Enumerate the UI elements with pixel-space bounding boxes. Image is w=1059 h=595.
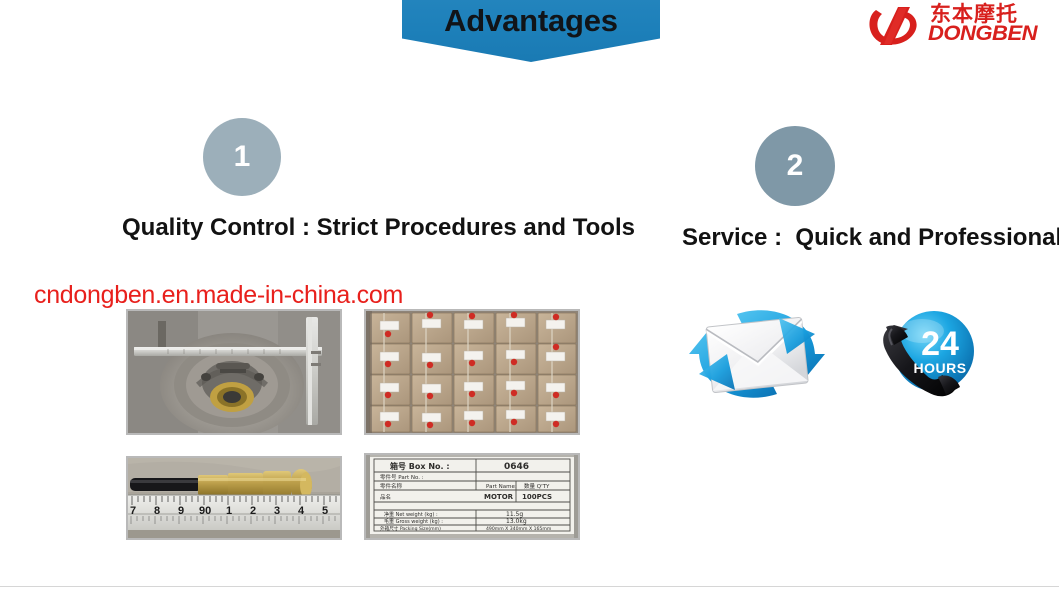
24-hours-number: 24 xyxy=(921,325,959,363)
svg-text:1: 1 xyxy=(226,505,232,517)
svg-text:11.5g: 11.5g xyxy=(506,511,523,518)
section-heading-quality-control: Quality Control : Strict Procedures and … xyxy=(122,214,635,242)
svg-text:Part Name:: Part Name: xyxy=(486,484,517,490)
photo-packing-label-form: 箱号 Box No. : 0646 零件号 Part No. : 零件名称 Pa… xyxy=(364,453,580,540)
slide-canvas: Advantages 东本摩托 DONGBEN 1 Quality Contro… xyxy=(0,0,1059,595)
svg-text:数量 Q'TY: 数量 Q'TY xyxy=(524,482,550,490)
dongben-swoosh-mark-icon xyxy=(866,5,928,47)
svg-text:MOTOR: MOTOR xyxy=(484,493,514,501)
photo-cable-end-fitting-ruler: 7 8 9 90 1 2 3 4 5 xyxy=(126,456,342,540)
svg-text:3: 3 xyxy=(274,505,280,517)
page-title: Advantages xyxy=(402,0,660,42)
svg-text:净重 Net weight (kg) :: 净重 Net weight (kg) : xyxy=(384,511,438,518)
watermark-url: cndongben.en.made-in-china.com xyxy=(34,281,403,310)
svg-text:5: 5 xyxy=(322,505,328,517)
svg-text:外箱尺寸 Packing Size(mm): 外箱尺寸 Packing Size(mm) xyxy=(380,525,441,532)
svg-text:9: 9 xyxy=(178,505,184,517)
logo-english-name: DONGBEN xyxy=(928,23,1037,45)
svg-text:4: 4 xyxy=(298,505,305,517)
email-exchange-icon xyxy=(683,292,831,414)
svg-text:2: 2 xyxy=(250,505,256,517)
photo-stacked-cartons-warehouse xyxy=(364,309,580,435)
section-badge-2: 2 xyxy=(755,126,835,206)
brand-logo: 东本摩托 DONGBEN xyxy=(866,2,1058,50)
svg-text:7: 7 xyxy=(130,505,136,517)
svg-text:零件名称: 零件名称 xyxy=(380,482,403,490)
svg-text:90: 90 xyxy=(199,505,211,517)
svg-text:品名: 品名 xyxy=(380,493,391,501)
svg-text:490mm X 340mm X 165mm: 490mm X 340mm X 165mm xyxy=(486,526,552,532)
advantages-banner: Advantages xyxy=(402,0,660,62)
photo-brake-drum-caliper-measurement xyxy=(126,309,342,435)
svg-text:13.0kg: 13.0kg xyxy=(506,518,527,525)
section-badge-1: 1 xyxy=(203,118,281,196)
svg-text:8: 8 xyxy=(154,505,160,517)
svg-text:零件号 Part No. :: 零件号 Part No. : xyxy=(380,473,424,481)
svg-text:毛重 Gross weight (kg) :: 毛重 Gross weight (kg) : xyxy=(384,518,443,525)
section-heading-service: Service : Quick and Professional xyxy=(682,224,1059,252)
footer-divider xyxy=(0,586,1059,587)
logo-wordmark: 东本摩托 DONGBEN xyxy=(928,2,1058,50)
svg-text:箱号 Box No. :: 箱号 Box No. : xyxy=(390,461,450,471)
24-hours-support-icon: 24 HOURS xyxy=(872,303,976,407)
svg-text:100PCS: 100PCS xyxy=(522,493,552,501)
svg-text:0646: 0646 xyxy=(504,462,529,472)
24-hours-label: HOURS xyxy=(913,360,966,376)
